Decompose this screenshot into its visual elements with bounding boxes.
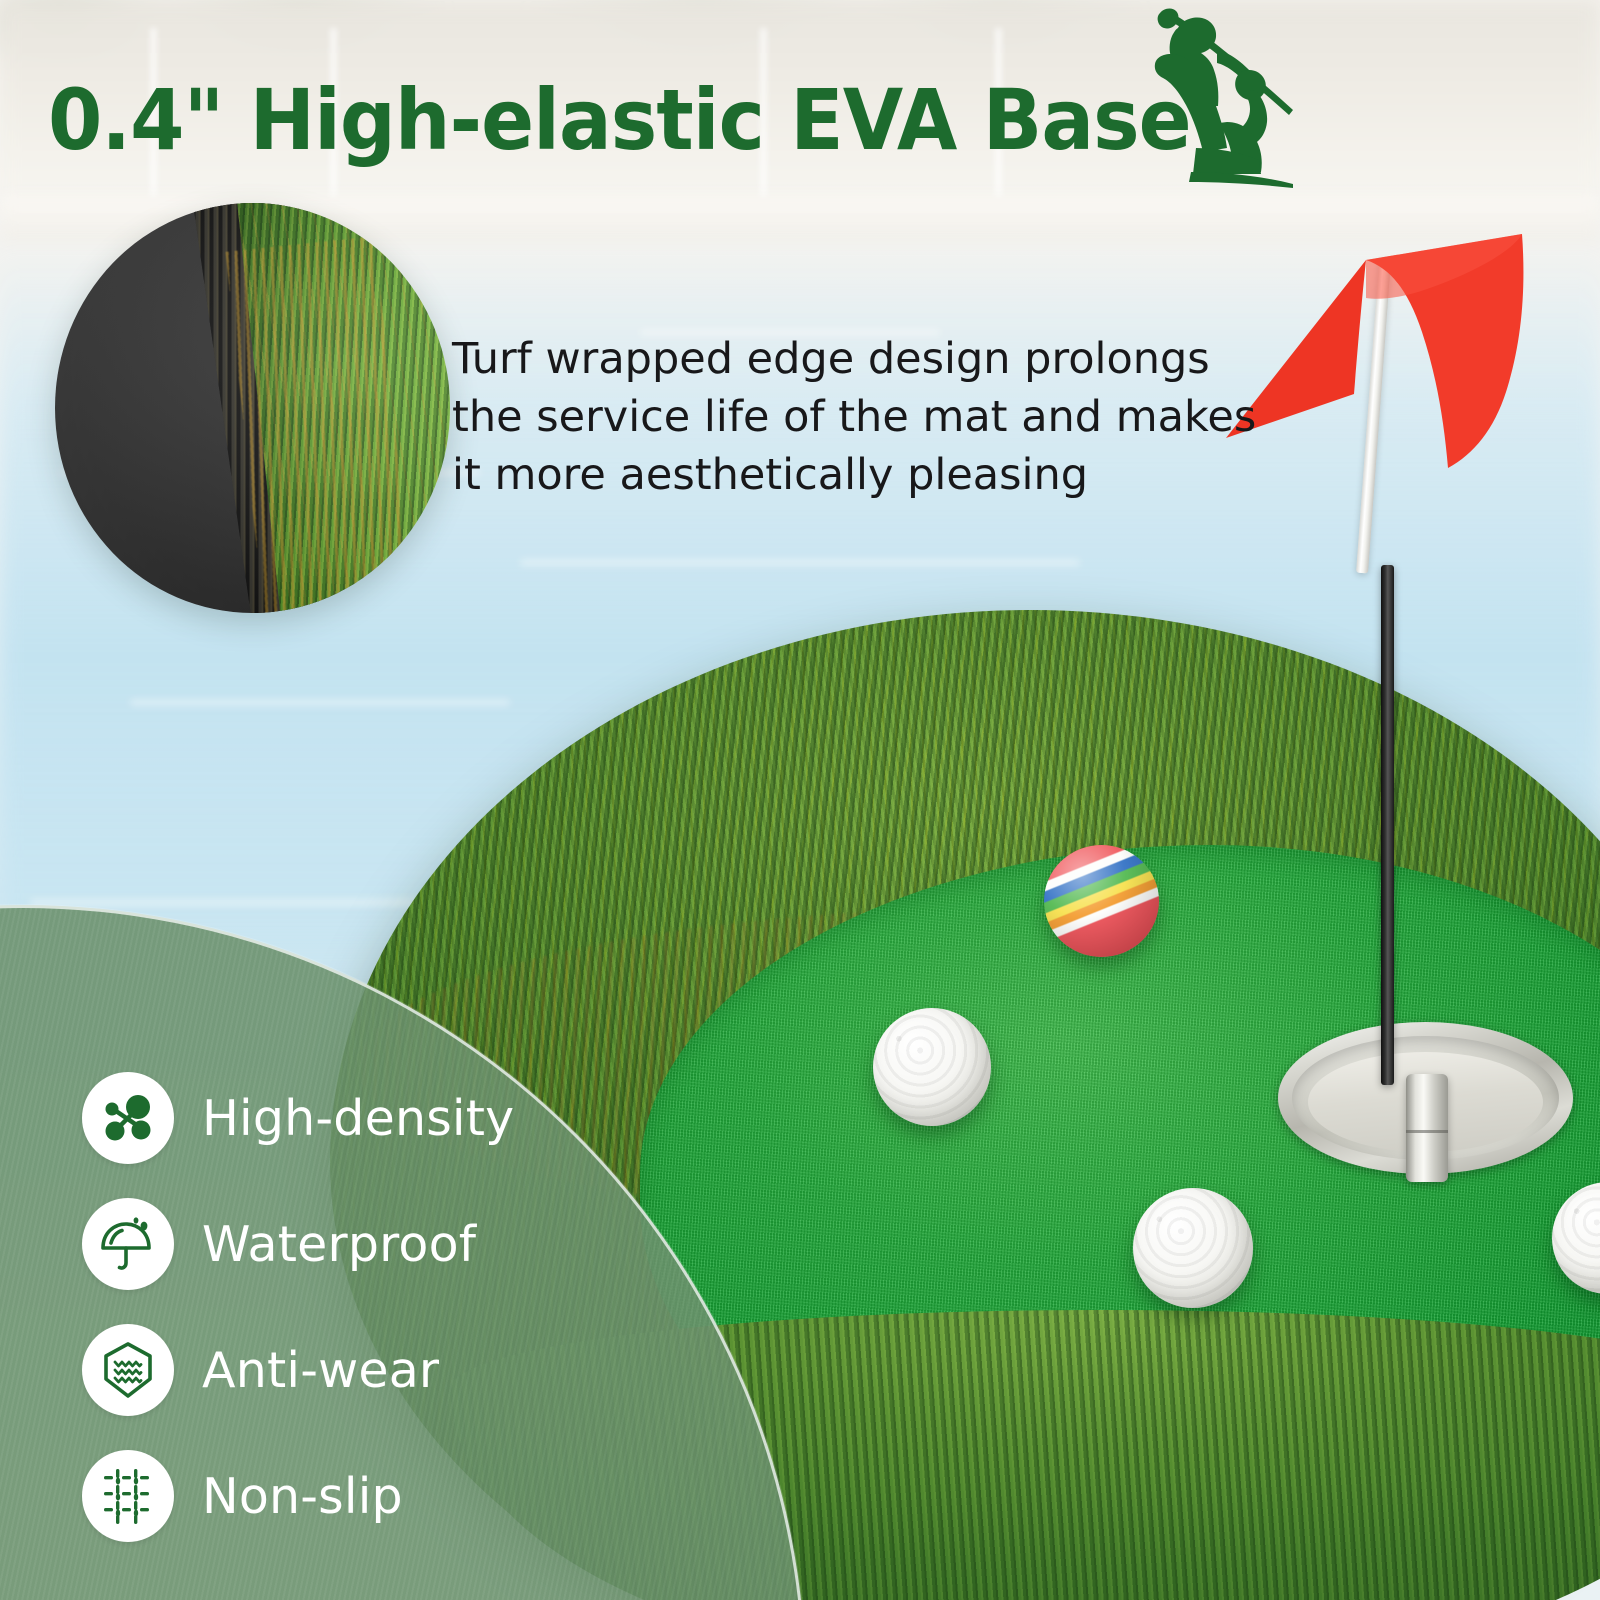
feature-item-high-density: High-density	[82, 1072, 722, 1164]
white-golf-ball-1	[873, 1008, 991, 1126]
molecule-density-icon	[82, 1072, 174, 1164]
feature-item-non-slip: Non-slip	[82, 1450, 722, 1542]
feature-label: Anti-wear	[202, 1342, 439, 1399]
water-ripple	[520, 560, 1080, 565]
feature-label: Non-slip	[202, 1468, 403, 1525]
cup-pole-sleeve	[1406, 1074, 1448, 1182]
white-golf-ball-2	[1133, 1188, 1253, 1308]
golfer-swing-icon	[1133, 2, 1323, 198]
description-line-1: Turf wrapped edge design prolongs	[452, 330, 1242, 388]
turf-edge-cross-section-photo	[55, 203, 450, 613]
rainbow-practice-ball	[1044, 845, 1159, 957]
feature-label: High-density	[202, 1090, 514, 1147]
description-line-3: it more aesthetically pleasing	[452, 446, 1242, 504]
metal-putting-cup	[1278, 1022, 1573, 1174]
feature-item-waterproof: Waterproof	[82, 1198, 722, 1290]
feature-list: High-density Waterproof	[82, 1072, 722, 1576]
page-title: 0.4" High-elastic EVA Base	[48, 78, 1191, 162]
feature-graphic: High-density Waterproof	[0, 0, 1600, 1600]
feature-item-anti-wear: Anti-wear	[82, 1324, 722, 1416]
flagstick-lower-black	[1381, 565, 1394, 1085]
description-line-2: the service life of the mat and makes	[452, 388, 1242, 446]
inset-vignette	[55, 203, 450, 613]
red-pennant-flag	[1222, 224, 1527, 484]
umbrella-droplets-icon	[82, 1198, 174, 1290]
description-text: Turf wrapped edge design prolongs the se…	[452, 330, 1242, 504]
feature-label: Waterproof	[202, 1216, 476, 1273]
shield-waves-icon	[82, 1324, 174, 1416]
woven-grid-icon	[82, 1450, 174, 1542]
